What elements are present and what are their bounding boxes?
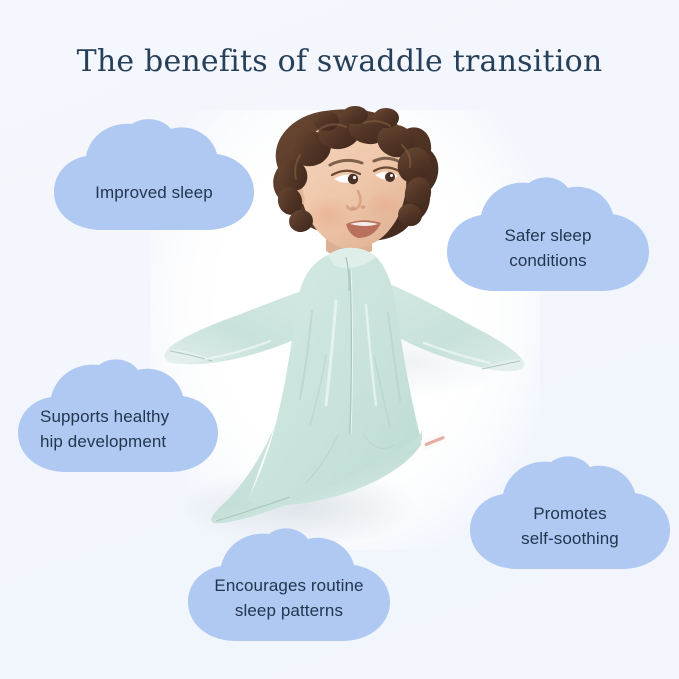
benefit-label: Promotes self-soothing [462,501,678,551]
benefit-label: Improved sleep [44,180,264,205]
brand-tag [420,431,448,451]
benefit-cloud-improved-sleep: Improved sleep [44,118,264,234]
cloud-shape [54,119,254,230]
infographic-canvas: The benefits of swaddle transition Impro… [0,0,679,679]
benefit-label: Safer sleep conditions [437,223,659,273]
benefit-label: Supports healthy hip development [10,404,226,454]
benefit-label: Encourages routine sleep patterns [180,573,398,623]
benefit-cloud-routine-sleep: Encourages routine sleep patterns [180,527,398,645]
benefit-cloud-hip-development: Supports healthy hip development [10,358,226,476]
benefit-cloud-self-soothing: Promotes self-soothing [462,455,678,573]
benefit-cloud-safer-sleep: Safer sleep conditions [437,175,659,295]
page-title: The benefits of swaddle transition [0,44,679,79]
